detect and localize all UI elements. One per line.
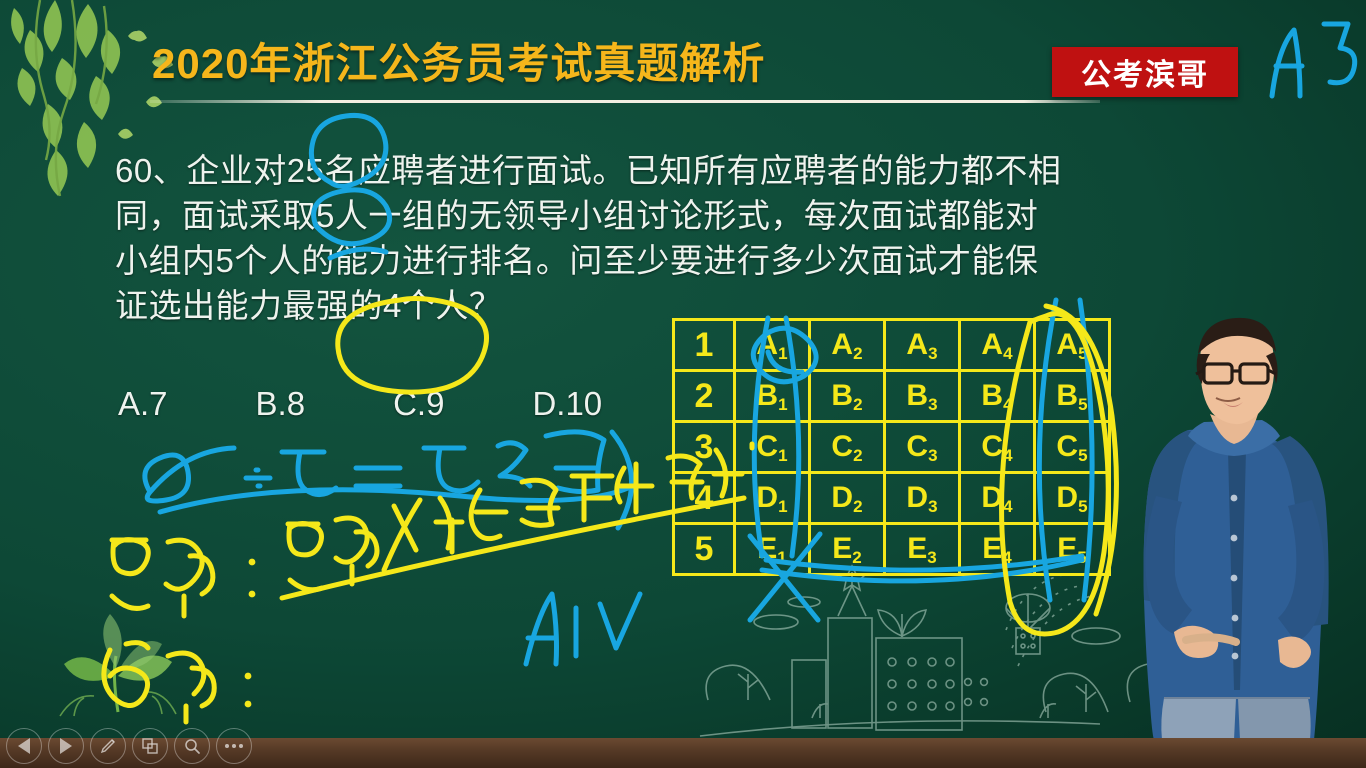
table-cell: D2 <box>810 473 885 524</box>
table-cell: E2 <box>810 524 885 575</box>
header: 2020年浙江公务员考试真题解析 <box>152 34 1092 98</box>
table-cell: D1 <box>735 473 810 524</box>
video-screenshot: 2020年浙江公务员考试真题解析 公考滨哥 60、企业对25名应聘者进行面试。已… <box>0 0 1366 768</box>
table-cell: B3 <box>885 371 960 422</box>
page-title: 2020年浙江公务员考试真题解析 <box>152 34 1092 94</box>
player-toolbar[interactable] <box>6 728 252 764</box>
table-cell: B5 <box>1035 371 1110 422</box>
table-cell: E1 <box>735 524 810 575</box>
table-cell: C3 <box>885 422 960 473</box>
table-row-label: 1 <box>674 320 735 371</box>
table-row: 5E1E2E3E4E5 <box>674 524 1110 575</box>
presenter-figure <box>1128 310 1338 740</box>
option-b: B.8 <box>256 385 306 423</box>
table-cell: D4 <box>960 473 1035 524</box>
table-cell: A2 <box>810 320 885 371</box>
option-d: D.10 <box>532 385 602 423</box>
groups-table: 1A1A2A3A4A52B1B2B3B4B53C1C2C3C4C54D1D2D3… <box>672 318 1111 576</box>
brand-badge-label: 公考滨哥 <box>1081 50 1209 94</box>
table-cell: A3 <box>885 320 960 371</box>
table-cell: C4 <box>960 422 1035 473</box>
question-line: 小组内5个人的能力进行排名。问至少要进行多少次面试才能保 <box>115 238 1260 283</box>
table-cell: A4 <box>960 320 1035 371</box>
option-a: A.7 <box>118 385 168 423</box>
table-cell: B1 <box>735 371 810 422</box>
ellipsis-icon <box>225 744 243 748</box>
triangle-left-icon <box>18 738 30 754</box>
table-row-label: 2 <box>674 371 735 422</box>
question-text: 60、企业对25名应聘者进行面试。已知所有应聘者的能力都不相 同，面试采取5人一… <box>115 148 1260 328</box>
table-row: 3C1C2C3C4C5 <box>674 422 1110 473</box>
table-row-label: 5 <box>674 524 735 575</box>
pen-icon <box>99 737 117 755</box>
table-row: 4D1D2D3D4D5 <box>674 473 1110 524</box>
question-line: 同，面试采取5人一组的无领导小组讨论形式，每次面试都能对 <box>115 193 1260 238</box>
table-row: 1A1A2A3A4A5 <box>674 320 1110 371</box>
table-cell: B4 <box>960 371 1035 422</box>
table-cell: C2 <box>810 422 885 473</box>
play-button[interactable] <box>48 728 84 764</box>
table-cell: A5 <box>1035 320 1110 371</box>
pages-button[interactable] <box>132 728 168 764</box>
header-divider <box>150 100 1100 103</box>
table-row-label: 3 <box>674 422 735 473</box>
table-cell: D3 <box>885 473 960 524</box>
pen-button[interactable] <box>90 728 126 764</box>
table-cell: E3 <box>885 524 960 575</box>
brand-badge: 公考滨哥 <box>1052 47 1238 97</box>
search-button[interactable] <box>174 728 210 764</box>
table-cell: E4 <box>960 524 1035 575</box>
table-cell: A1 <box>735 320 810 371</box>
pages-icon <box>141 737 159 755</box>
table-cell: D5 <box>1035 473 1110 524</box>
table-cell: B2 <box>810 371 885 422</box>
table-cell: E5 <box>1035 524 1110 575</box>
table-cell: C5 <box>1035 422 1110 473</box>
option-c: C.9 <box>393 385 444 423</box>
table-row-label: 4 <box>674 473 735 524</box>
answer-options: A.7 B.8 C.9 D.10 <box>118 385 718 423</box>
triangle-right-icon <box>60 738 72 754</box>
previous-button[interactable] <box>6 728 42 764</box>
table-row: 2B1B2B3B4B5 <box>674 371 1110 422</box>
table-cell: C1 <box>735 422 810 473</box>
more-button[interactable] <box>216 728 252 764</box>
search-icon <box>183 737 201 755</box>
question-line: 60、企业对25名应聘者进行面试。已知所有应聘者的能力都不相 <box>115 148 1260 193</box>
